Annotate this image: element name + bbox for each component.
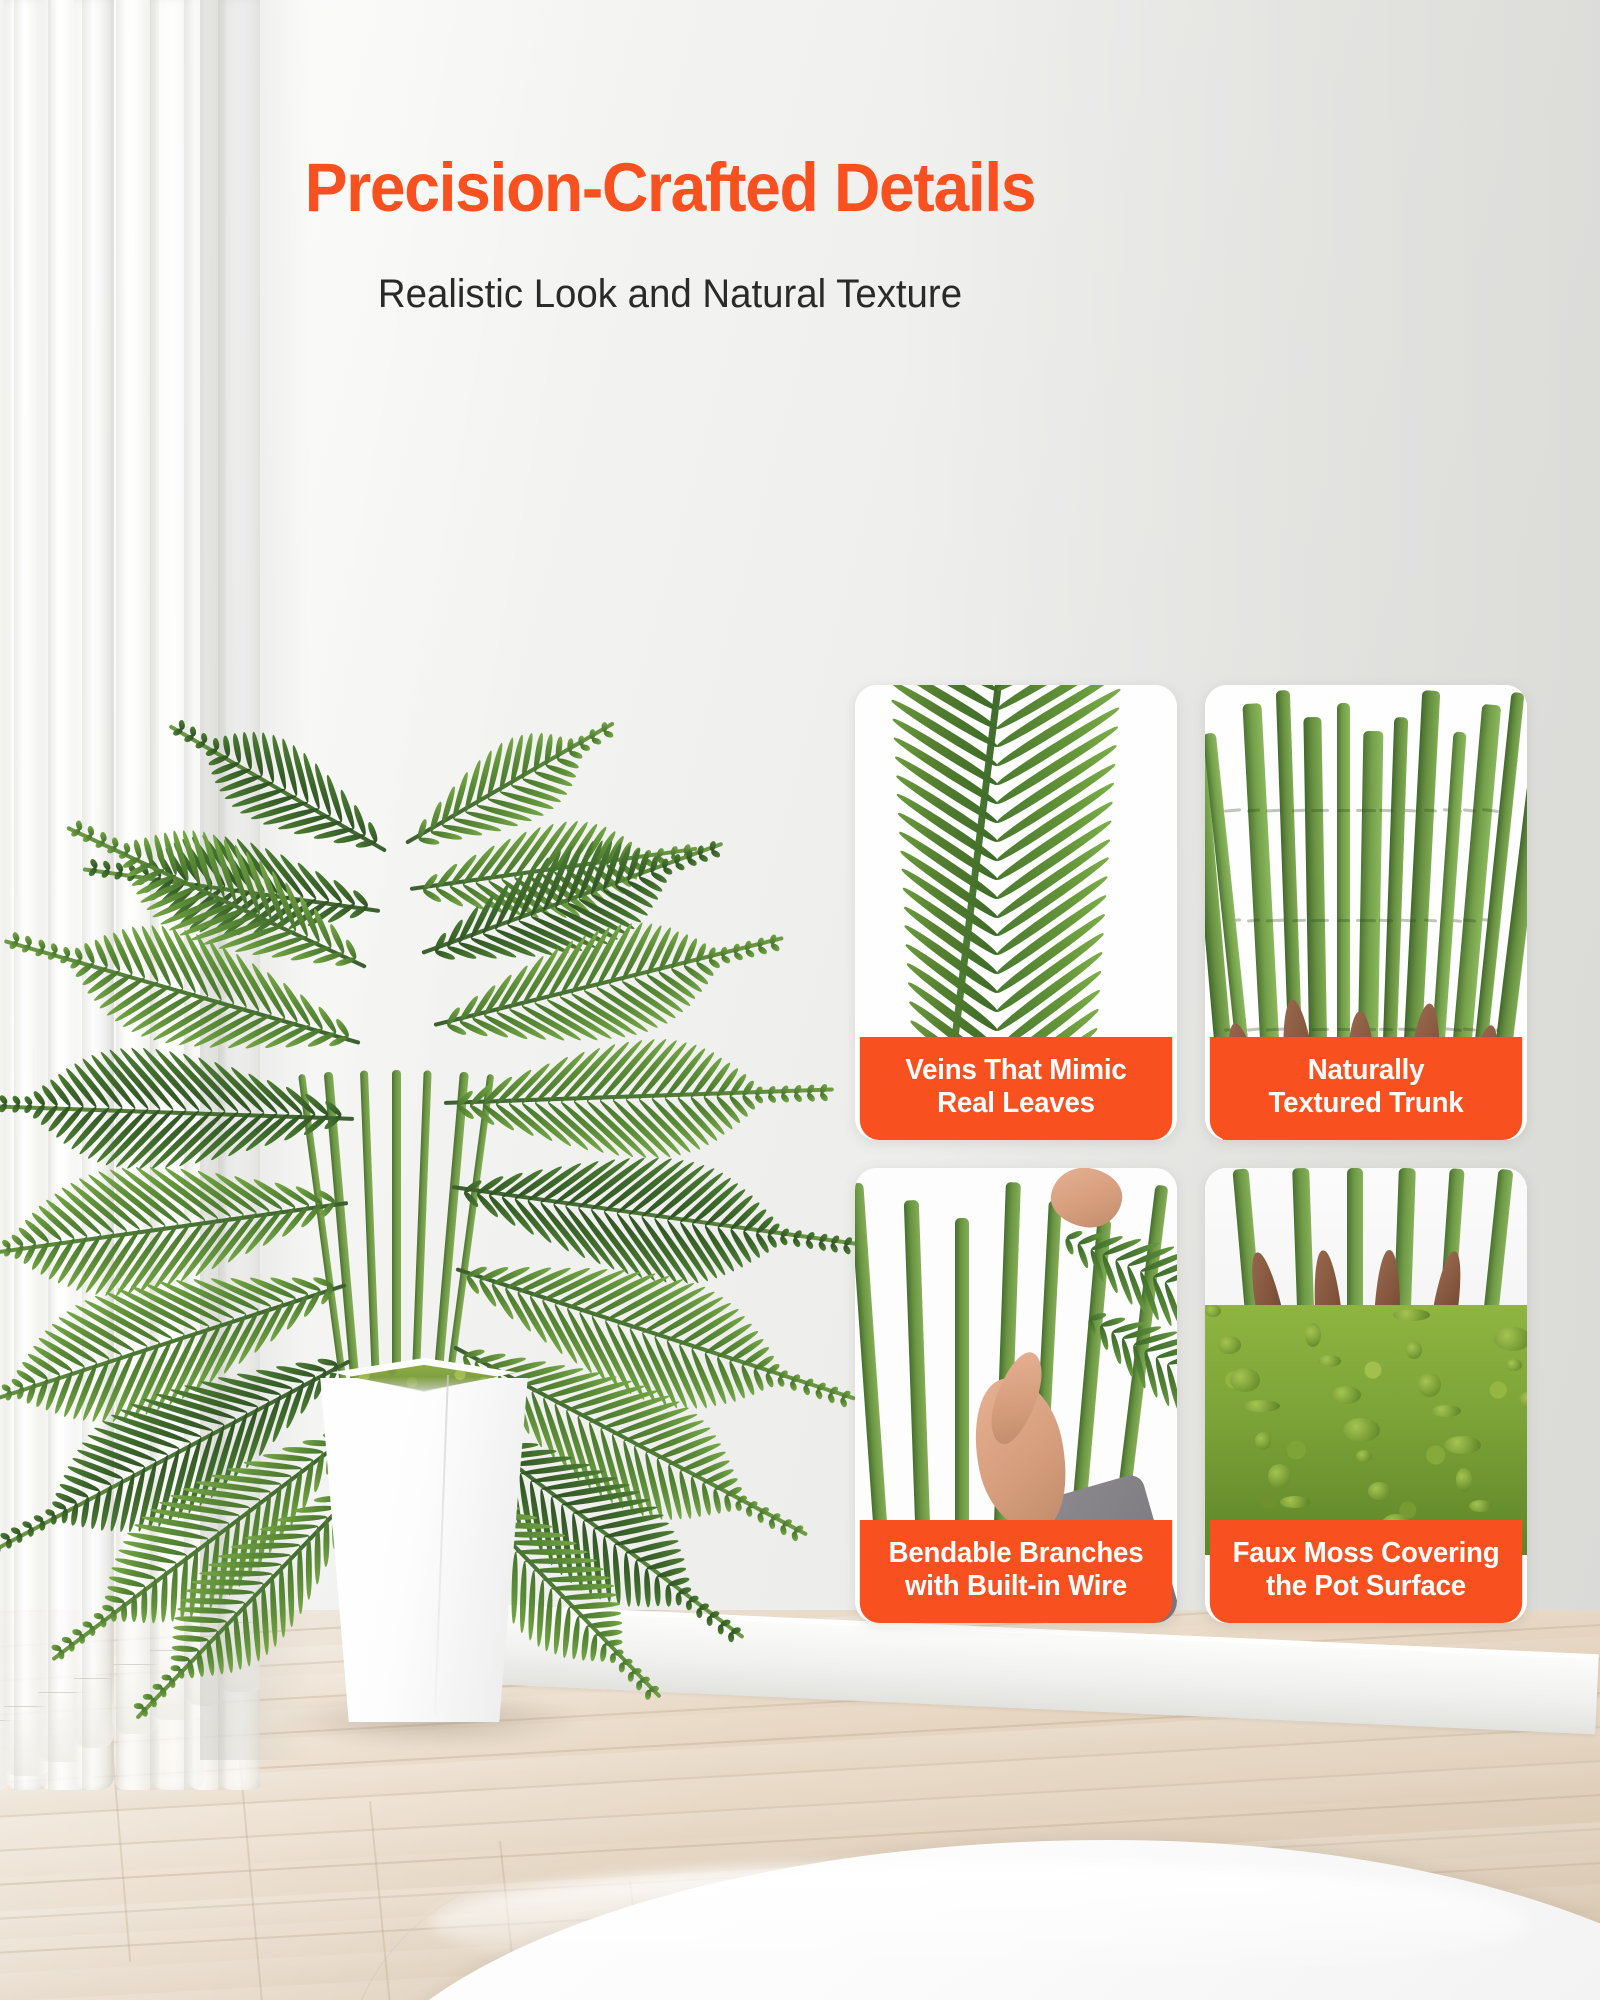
frond-leaflet — [780, 1092, 791, 1104]
frond-leaflet — [723, 1495, 732, 1512]
stem-node-ring — [1292, 809, 1306, 812]
frond-leaflet — [767, 1093, 778, 1105]
frond-leaflet — [232, 1612, 243, 1671]
frond-leaflet — [1098, 1325, 1110, 1351]
frond-leaflet — [297, 1545, 304, 1614]
frond-leaflet — [179, 720, 186, 730]
frond-leaflet — [232, 733, 243, 763]
frond-leaflet — [754, 1093, 765, 1105]
frond-leaflet — [201, 733, 208, 744]
stem-node-ring — [1292, 918, 1306, 921]
feature-card-grid: Veins That Mimic Real Leaves Naturally T… — [855, 685, 1527, 1635]
moss-tuft — [1356, 1450, 1372, 1462]
stem-node-ring — [1224, 809, 1241, 813]
frond-leaflet — [570, 1616, 581, 1660]
frond-leaflet — [580, 1625, 590, 1661]
frond-leaflet — [1063, 1237, 1075, 1255]
frond-leaflet — [686, 857, 698, 868]
frond-leaflet — [587, 1620, 623, 1629]
frond-leaflet — [732, 951, 744, 962]
frond-leaflet — [208, 1561, 281, 1567]
stem-node-ring — [1247, 1027, 1260, 1031]
frond-leaflet — [568, 749, 583, 760]
caption-bendable-line2: with Built-in Wire — [868, 1570, 1165, 1603]
stem-node-ring — [1379, 1028, 1393, 1031]
caption-trunk: Naturally Textured Trunk — [1210, 1037, 1522, 1140]
moss-tuft — [1406, 1341, 1422, 1359]
frond-leaflet — [818, 1091, 829, 1103]
frond-leaflet — [814, 1389, 823, 1400]
frond-leaflet — [180, 1597, 244, 1606]
caption-moss-line1: Faux Moss Covering — [1218, 1537, 1515, 1570]
frond-leaflet — [696, 1608, 702, 1618]
frond-leaflet — [686, 1600, 692, 1610]
frond-leaflet — [191, 1579, 263, 1586]
frond-leaflet — [792, 1237, 802, 1249]
moss-tuft — [1431, 1405, 1461, 1417]
caption-trunk-line2: Textured Trunk — [1218, 1087, 1515, 1120]
frond-leaflet — [516, 1549, 588, 1555]
frond-leaflet — [805, 1091, 816, 1103]
frond-leaflet — [569, 1601, 620, 1610]
moss-tuft — [1218, 1336, 1241, 1354]
frond-leaflet — [323, 1517, 330, 1567]
frond-leaflet — [314, 1526, 321, 1584]
frond-leaflet — [580, 743, 592, 752]
caption-veins-line2: Real Leaves — [868, 1087, 1165, 1120]
frond-leaflet — [278, 1564, 286, 1638]
frond-leaflet — [552, 1598, 563, 1655]
frond-leaflet — [214, 1631, 225, 1676]
frond-leaflet — [1109, 1331, 1123, 1365]
frond-leaflet — [260, 1583, 270, 1655]
frond-leaflet — [561, 1607, 572, 1658]
frond-leaflet — [842, 1244, 852, 1256]
frond-leaflet — [609, 1653, 616, 1664]
frond-leaflet — [770, 942, 781, 953]
frond-leaflet — [675, 1592, 681, 1605]
stem-node-ring — [1356, 918, 1376, 921]
moss-tuft — [1243, 1400, 1280, 1412]
caption-veins: Veins That Mimic Real Leaves — [860, 1037, 1172, 1140]
frond-leaflet — [177, 1606, 236, 1615]
frond-leaflet — [110, 1610, 116, 1622]
stem-node-ring — [1266, 1027, 1285, 1031]
frond-leaflet — [251, 1593, 261, 1662]
frond-leaflet — [674, 861, 686, 872]
frond-leaflet — [627, 1671, 635, 1682]
frond-leaflet — [757, 945, 768, 956]
moss-tuft — [1469, 1500, 1492, 1512]
stem-node-ring — [1379, 918, 1393, 921]
frond-leaflet — [745, 948, 757, 959]
moss-tuft — [1280, 1496, 1310, 1508]
frond-leaflet — [295, 1504, 337, 1513]
frond-leaflet — [199, 1570, 272, 1577]
frond-leaflet — [618, 1662, 626, 1673]
frond-leaflet — [604, 1639, 623, 1647]
frond-leaflet — [717, 1624, 723, 1634]
moss-tuft — [1318, 1355, 1341, 1367]
stem-node-ring — [1337, 1028, 1350, 1031]
frond-leaflet — [418, 836, 440, 846]
frond-leaflet — [51, 1500, 67, 1512]
frond-leaflet — [817, 1240, 827, 1252]
frond-leaflet — [171, 1644, 199, 1653]
frond-leaflet — [555, 736, 564, 759]
frond-leaflet — [196, 1649, 206, 1677]
frond-leaflet — [245, 1533, 309, 1541]
frond-leaflet — [143, 836, 155, 864]
frond-leaflet — [1075, 1243, 1090, 1270]
frond-leaflet — [804, 1238, 814, 1250]
moss-tuft — [1494, 1327, 1527, 1351]
frond-leaflet — [260, 1523, 318, 1532]
feature-card-trunk[interactable]: Naturally Textured Trunk — [1205, 685, 1527, 1140]
stem-node-ring — [1337, 809, 1350, 812]
frond-leaflet — [190, 726, 197, 737]
frond-leaflet — [532, 733, 545, 773]
caption-veins-line1: Veins That Mimic — [868, 1054, 1165, 1087]
frond-leaflet — [222, 735, 231, 756]
frond-leaflet — [1087, 1318, 1097, 1336]
frond-leaflet — [527, 1570, 537, 1640]
frond-leaflet — [543, 734, 554, 766]
stem-node-ring — [1337, 919, 1350, 922]
frond-leaflet — [830, 1242, 840, 1254]
frond-leaflet — [596, 1629, 623, 1638]
frond-leaflet — [793, 1092, 804, 1104]
moss-tuft — [1205, 1305, 1221, 1317]
caption-moss-line2: the Pot Surface — [1218, 1570, 1515, 1603]
feature-card-bendable[interactable]: Bendable Branches with Built-in Wire — [855, 1168, 1177, 1623]
frond-leaflet — [172, 1634, 208, 1643]
frond-leaflet — [277, 1514, 328, 1523]
frond-leaflet — [242, 1602, 253, 1666]
stem-node-ring — [1266, 918, 1285, 922]
frond-leaflet — [779, 1235, 789, 1247]
frond-leaflet — [542, 1575, 609, 1583]
frond-leaflet — [578, 1610, 622, 1619]
frond-leaflet — [525, 1558, 597, 1564]
frond-leaflet — [205, 1640, 215, 1676]
frond-leaflet — [644, 1689, 652, 1700]
frond-leaflet — [839, 1397, 848, 1408]
frond-leaflet — [231, 1542, 300, 1550]
stem-node-ring — [1311, 1028, 1329, 1031]
frond-leaflet — [287, 1555, 294, 1627]
page-subtitle: Realistic Look and Natural Texture — [27, 272, 1313, 317]
moss-tuft — [1268, 1464, 1291, 1488]
frond-leaflet — [599, 1644, 608, 1663]
frond-leaflet — [827, 1393, 836, 1404]
page-title: Precision-Crafted Details — [47, 148, 1293, 227]
frond-leaflet — [662, 866, 674, 876]
frond-leaflet — [223, 1621, 234, 1673]
frond-leaflet — [185, 1588, 254, 1596]
stem-node-ring — [1311, 918, 1329, 921]
frond-leaflet — [544, 1589, 555, 1652]
frond-leaflet — [560, 1592, 617, 1601]
frond-leaflet — [219, 1552, 291, 1559]
caption-trunk-line1: Naturally — [1218, 1054, 1515, 1087]
frond-leaflet — [707, 1616, 713, 1626]
caption-moss: Faux Moss Covering the Pot Surface — [1210, 1520, 1522, 1623]
frond-leaflet — [174, 1615, 226, 1624]
stem-node-ring — [1424, 918, 1437, 922]
frond-leaflet — [269, 1574, 278, 1648]
frond-leaflet — [306, 1536, 312, 1600]
frond-leaflet — [591, 736, 603, 746]
frond-leaflet — [173, 1625, 218, 1634]
stem-node-ring — [1462, 809, 1475, 813]
stem-node-ring — [1398, 1027, 1416, 1031]
frond-leaflet — [728, 1632, 734, 1642]
caption-bendable: Bendable Branches with Built-in Wire — [860, 1520, 1172, 1623]
frond-leaflet — [519, 1561, 528, 1633]
caption-bendable-line1: Bendable Branches — [868, 1537, 1165, 1570]
frond-leaflet — [720, 954, 732, 965]
feature-card-veins[interactable]: Veins That Mimic Real Leaves — [855, 685, 1177, 1140]
frond-leaflet — [764, 1372, 775, 1388]
frond-leaflet — [698, 853, 710, 864]
feature-card-moss[interactable]: Faux Moss Covering the Pot Surface — [1205, 1168, 1527, 1623]
stem-node-ring — [1443, 1027, 1462, 1032]
frond-leaflet — [171, 1654, 190, 1662]
frond-leaflet — [603, 730, 615, 740]
frond-leaflet — [428, 801, 444, 833]
frond-leaflet — [534, 1566, 604, 1573]
frond-leaflet — [710, 848, 722, 859]
frond-leaflet — [589, 1634, 598, 1662]
